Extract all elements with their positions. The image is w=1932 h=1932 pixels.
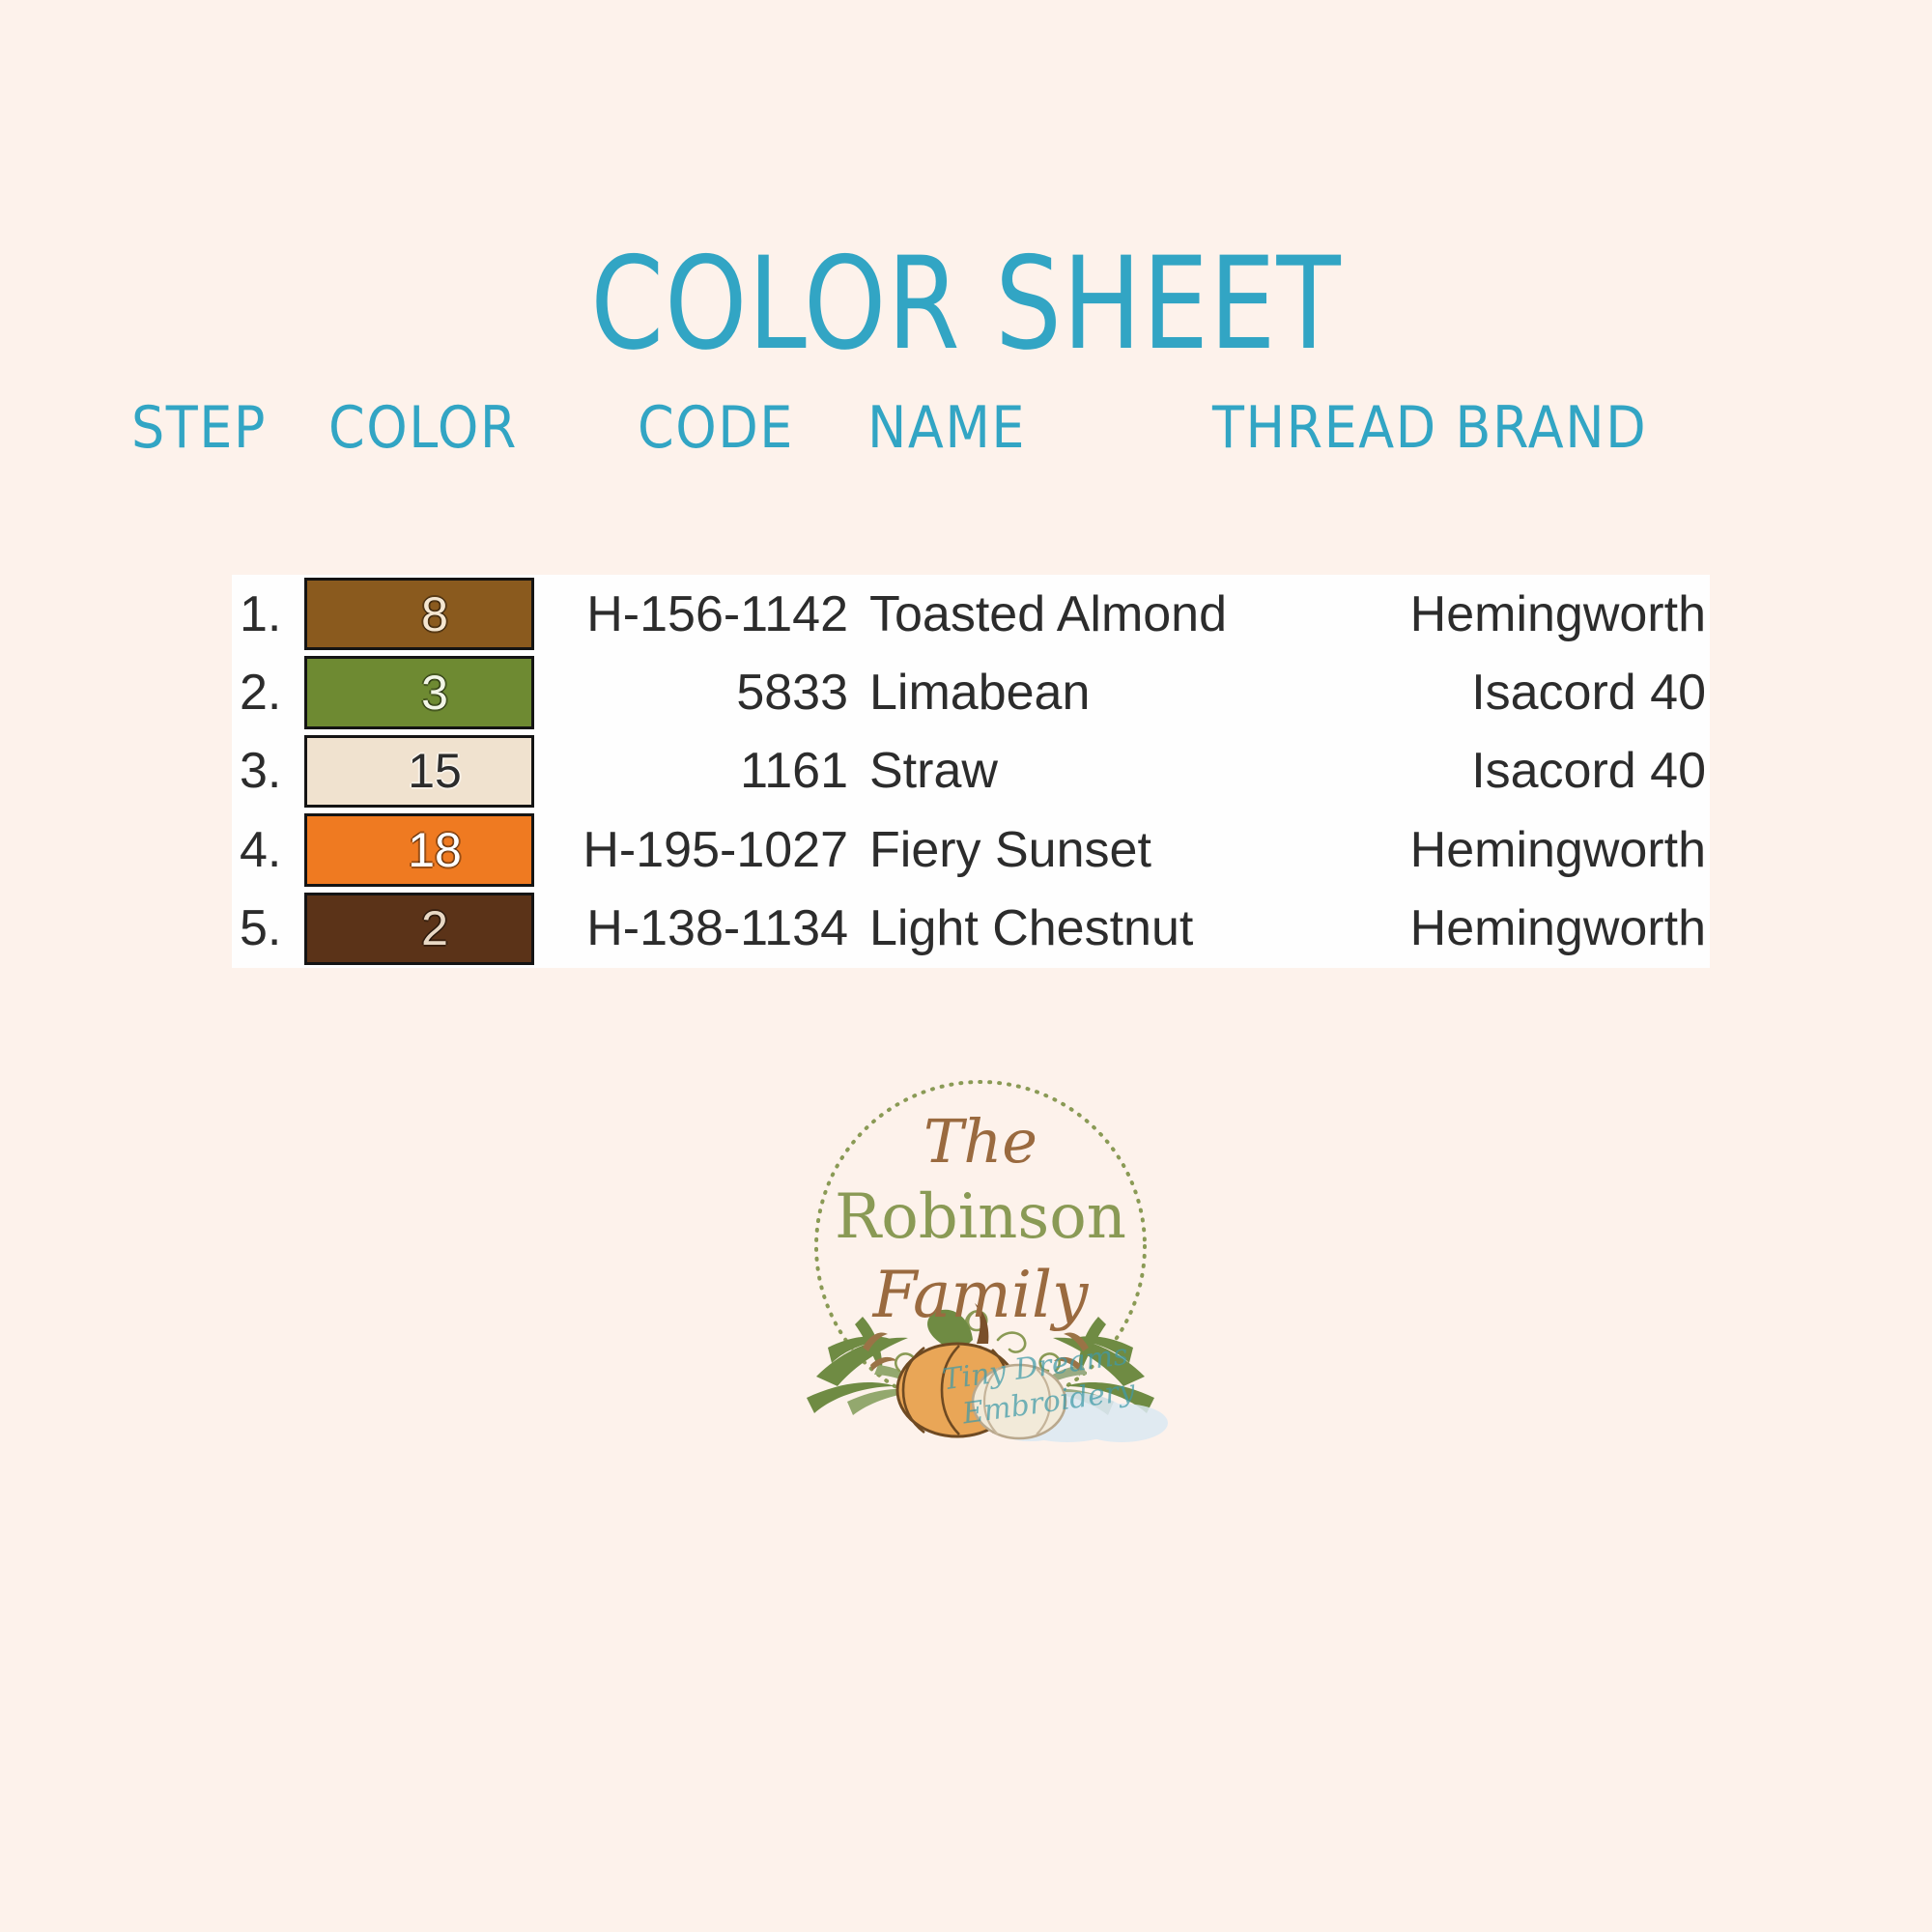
cell-brand: Isacord 40 (1294, 664, 1710, 722)
cell-name: Limabean (869, 664, 1294, 722)
column-headers: STEP COLOR CODE NAME THREAD BRAND (0, 394, 1932, 469)
logo-line-the: The (923, 1106, 1037, 1177)
cell-step: 4. (232, 821, 304, 879)
swatch-number: 8 (421, 586, 448, 642)
cell-step: 5. (232, 899, 304, 957)
table-row: 1.8H-156-1142Toasted AlmondHemingworth (232, 575, 1710, 653)
swatch-number: 18 (408, 822, 462, 878)
table-row: 4.18H-195-1027Fiery SunsetHemingworth (232, 810, 1710, 889)
column-header-name: NAME (867, 394, 1026, 461)
table-row: 5.2H-138-1134Light ChestnutHemingworth (232, 890, 1710, 968)
cell-brand: Hemingworth (1294, 899, 1710, 957)
embroidery-logo: The Robinson Family Tiny Dreams Embroide… (778, 1058, 1183, 1463)
cell-code: H-195-1027 (536, 821, 869, 879)
cell-brand: Hemingworth (1294, 821, 1710, 879)
cell-code: 5833 (536, 664, 869, 722)
color-swatch-icon: 15 (304, 735, 534, 808)
cell-step: 2. (232, 664, 304, 722)
swatch-number: 15 (408, 743, 462, 799)
cell-color-swatch: 15 (304, 732, 536, 810)
cell-color-swatch: 8 (304, 575, 536, 653)
cell-color-swatch: 3 (304, 653, 536, 731)
cell-color-swatch: 18 (304, 810, 536, 889)
table-row: 2.35833LimabeanIsacord 40 (232, 653, 1710, 731)
column-header-step: STEP (131, 394, 267, 461)
color-swatch-icon: 3 (304, 656, 534, 728)
column-header-code: CODE (638, 394, 794, 461)
page-title: COLOR SHEET (77, 240, 1855, 367)
cell-name: Fiery Sunset (869, 821, 1294, 879)
color-swatch-icon: 18 (304, 813, 534, 886)
logo-line-family: Family (872, 1258, 1089, 1332)
column-header-color: COLOR (328, 394, 518, 461)
cell-code: H-156-1142 (536, 585, 869, 643)
cell-code: H-138-1134 (536, 899, 869, 957)
cell-step: 3. (232, 742, 304, 800)
cell-name: Toasted Almond (869, 585, 1294, 643)
cell-step: 1. (232, 585, 304, 643)
logo-line-robinson: Robinson (835, 1181, 1126, 1253)
table-row: 3.151161StrawIsacord 40 (232, 732, 1710, 810)
cell-code: 1161 (536, 742, 869, 800)
color-table: 1.8H-156-1142Toasted AlmondHemingworth2.… (232, 575, 1710, 968)
swatch-number: 3 (421, 665, 448, 721)
cell-name: Light Chestnut (869, 899, 1294, 957)
swatch-number: 2 (421, 900, 448, 956)
cell-name: Straw (869, 742, 1294, 800)
column-header-brand: THREAD BRAND (1212, 394, 1647, 461)
color-swatch-icon: 2 (304, 893, 534, 965)
color-swatch-icon: 8 (304, 578, 534, 650)
cell-brand: Hemingworth (1294, 585, 1710, 643)
cell-brand: Isacord 40 (1294, 742, 1710, 800)
cell-color-swatch: 2 (304, 890, 536, 968)
